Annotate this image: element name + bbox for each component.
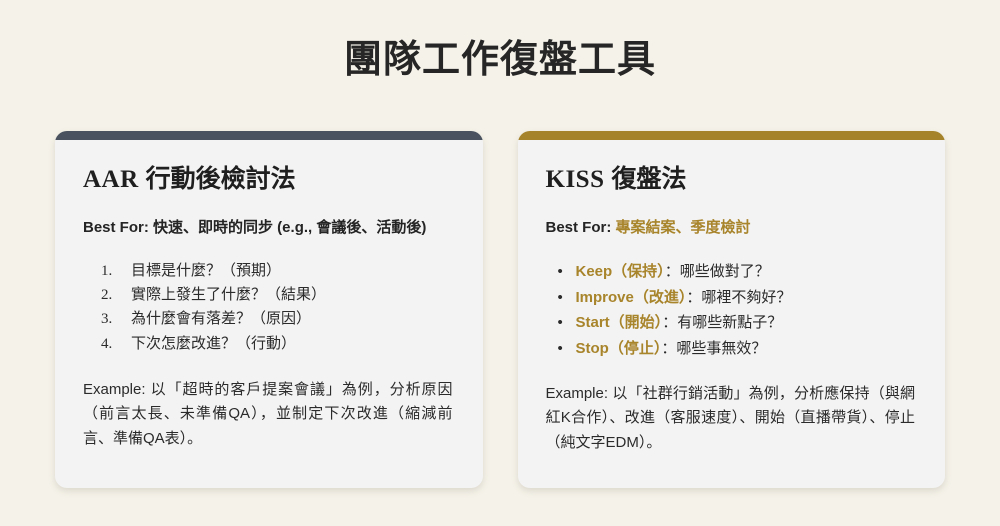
bullet-icon: • xyxy=(558,264,576,279)
list-marker: 4. xyxy=(101,332,131,356)
list-item: 2. 實際上發生了什麼？（結果） xyxy=(101,283,457,307)
list-item: • Stop（停止）：哪些事無效？ xyxy=(558,336,920,362)
page-title: 團隊工作復盤工具 xyxy=(0,38,1000,82)
card-body-aar: AAR 行動後檢討法 Best For: 快速、即時的同步 (e.g., 會議後… xyxy=(55,140,483,451)
slide-root: 團隊工作復盤工具 AAR 行動後檢討法 Best For: 快速、即時的同步 (… xyxy=(0,0,1000,526)
list-keyword: Stop（停止） xyxy=(576,340,662,357)
list-text: 實際上發生了什麼？（結果） xyxy=(131,283,326,307)
best-for-value-aar: 快速、即時的同步 (e.g., 會議後、活動後) xyxy=(153,219,426,236)
list-text: 下次怎麼改進？（行動） xyxy=(131,332,296,356)
card-title-kiss: KISS 復盤法 xyxy=(546,164,920,195)
list-text: 為什麼會有落差？（原因） xyxy=(131,307,311,331)
list-item: • Improve（改進）：哪裡不夠好？ xyxy=(558,285,920,311)
card-title-latin-aar: AAR xyxy=(83,166,139,193)
list-text: ：哪些事無效？ xyxy=(661,340,766,357)
list-marker: 3. xyxy=(101,307,131,331)
card-title-cjk-aar: 行動後檢討法 xyxy=(146,164,296,193)
list-marker: 2. xyxy=(101,283,131,307)
list-item: 3. 為什麼會有落差？（原因） xyxy=(101,307,457,331)
list-text: ：哪些做對了？ xyxy=(665,263,770,280)
card-title-cjk-kiss: 復盤法 xyxy=(611,164,686,193)
card-kiss: KISS 復盤法 Best For: 專案結案、季度檢討 • Keep（保持）：… xyxy=(518,131,946,488)
best-for-label-kiss: Best For: xyxy=(546,219,612,236)
card-accent-bar-aar xyxy=(55,131,483,140)
bullet-icon: • xyxy=(558,290,576,305)
list-text: ：有哪些新點子？ xyxy=(662,314,782,331)
list-keyword: Keep（保持） xyxy=(576,263,665,280)
example-text-aar: Example: 以「超時的客戶提案會議」為例，分析原因（前言太長、未準備QA）… xyxy=(83,378,457,451)
list-item: 4. 下次怎麼改進？（行動） xyxy=(101,332,457,356)
list-keyword: Improve（改進） xyxy=(576,289,687,306)
list-text: ：哪裡不夠好？ xyxy=(686,289,791,306)
list-item: • Keep（保持）：哪些做對了？ xyxy=(558,259,920,285)
aar-step-list: 1. 目標是什麼？（預期） 2. 實際上發生了什麼？（結果） 3. 為什麼會有落… xyxy=(101,259,457,356)
card-body-kiss: KISS 復盤法 Best For: 專案結案、季度檢討 • Keep（保持）：… xyxy=(518,140,946,455)
card-accent-bar-kiss xyxy=(518,131,946,140)
list-text: 目標是什麼？（預期） xyxy=(131,259,281,283)
list-item: 1. 目標是什麼？（預期） xyxy=(101,259,457,283)
list-marker: 1. xyxy=(101,259,131,283)
bullet-icon: • xyxy=(558,315,576,330)
list-item: • Start（開始）：有哪些新點子？ xyxy=(558,310,920,336)
card-title-latin-kiss: KISS xyxy=(546,166,605,193)
best-for-label-aar: Best For: xyxy=(83,219,149,236)
best-for-aar: Best For: 快速、即時的同步 (e.g., 會議後、活動後) xyxy=(83,217,457,239)
card-title-aar: AAR 行動後檢討法 xyxy=(83,164,457,195)
card-container: AAR 行動後檢討法 Best For: 快速、即時的同步 (e.g., 會議後… xyxy=(55,131,945,488)
kiss-bullet-list: • Keep（保持）：哪些做對了？ • Improve（改進）：哪裡不夠好？ •… xyxy=(558,259,920,362)
bullet-icon: • xyxy=(558,341,576,356)
list-keyword: Start（開始） xyxy=(576,314,663,331)
best-for-value-kiss: 專案結案、季度檢討 xyxy=(616,219,751,236)
example-text-kiss: Example: 以「社群行銷活動」為例，分析應保持（與網紅K合作）、改進（客服… xyxy=(546,382,920,455)
best-for-kiss: Best For: 專案結案、季度檢討 xyxy=(546,217,920,239)
card-aar: AAR 行動後檢討法 Best For: 快速、即時的同步 (e.g., 會議後… xyxy=(55,131,483,488)
